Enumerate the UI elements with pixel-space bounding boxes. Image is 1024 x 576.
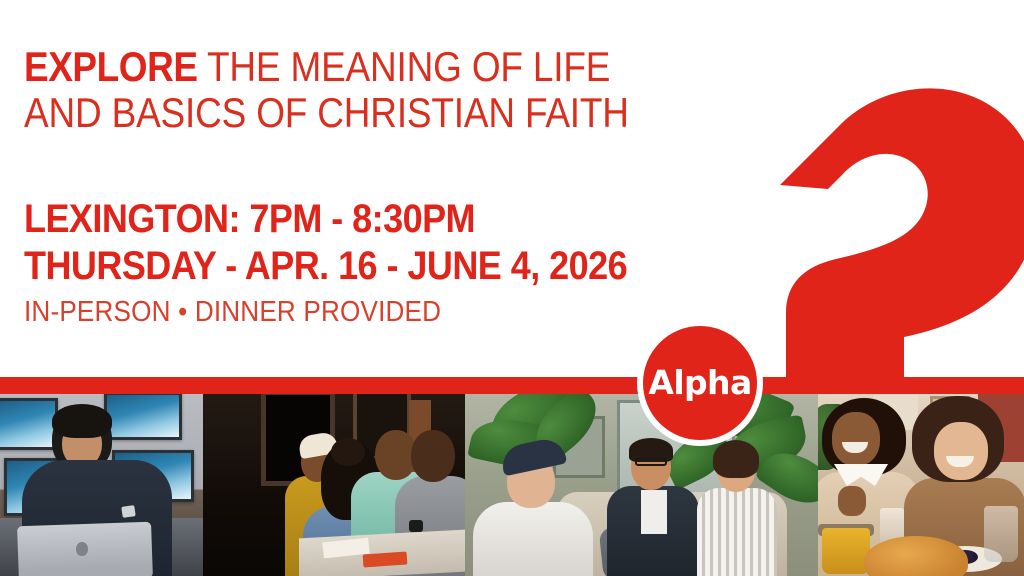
headline-block: EXPLORE THE MEANING OF LIFE AND BASICS O… [24,44,724,136]
event-dates: THURSDAY - APR. 16 - JUNE 4, 2026 [24,243,627,290]
photo-strip [0,394,1024,576]
headline-accent-word: EXPLORE [24,43,198,90]
alpha-logo-badge: Alpha [637,320,763,446]
event-location-time: LEXINGTON: 7PM - 8:30PM [24,196,627,243]
red-divider-bar [0,377,1024,394]
photo-young-man-laptop [0,394,203,576]
photo-living-room-friends [465,394,818,576]
photo-cafe-women [818,394,1024,576]
event-details-block: LEXINGTON: 7PM - 8:30PM THURSDAY - APR. … [24,196,694,331]
headline-line-2: AND BASICS OF CHRISTIAN FAITH [24,90,640,136]
headline-line-1-rest: THE MEANING OF LIFE [198,43,611,90]
headline-line-1: EXPLORE THE MEANING OF LIFE [24,44,640,90]
photo-group-discussion [203,394,465,576]
event-format-note: IN-PERSON • DINNER PROVIDED [24,293,627,331]
alpha-logo-text: Alpha [648,366,751,399]
alpha-course-promo-poster: EXPLORE THE MEANING OF LIFE AND BASICS O… [0,0,1024,576]
